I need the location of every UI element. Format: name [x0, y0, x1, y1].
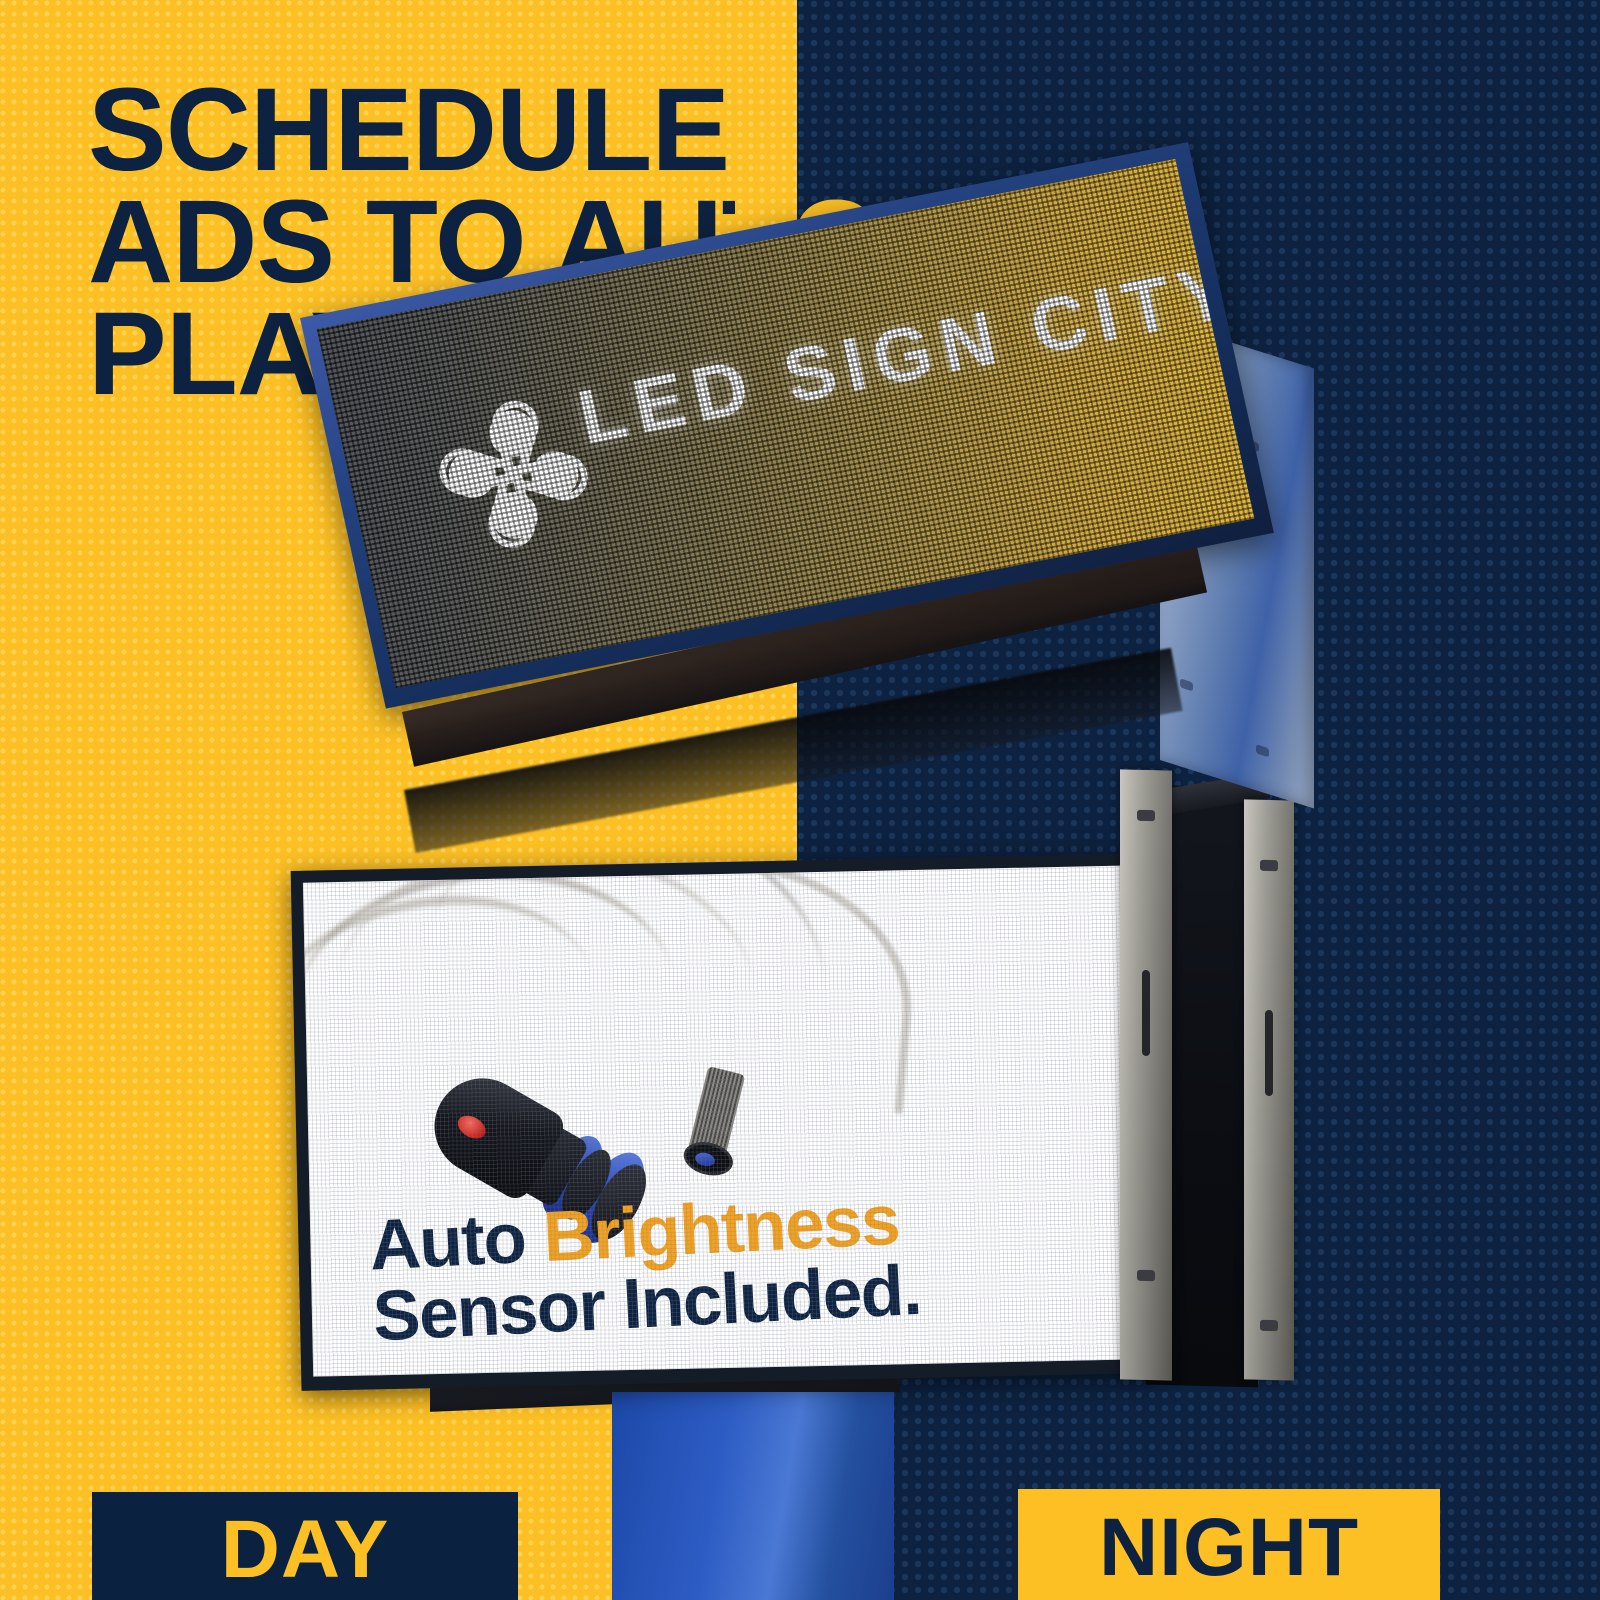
mounting-rail-inner — [1120, 769, 1172, 1380]
badge-day: DAY — [92, 1492, 518, 1600]
lower-display-cabinet: Auto Brightness Sensor Included. — [291, 853, 1157, 1391]
upper-led-sign: LED SIGN CITY — [300, 142, 1274, 708]
badge-night: NIGHT — [1018, 1489, 1440, 1600]
ad-copy-text: Auto Brightness Sensor Included. — [368, 1177, 1104, 1351]
lower-display-screen: Auto Brightness Sensor Included. — [303, 865, 1142, 1376]
sensor-lead-cable-icon — [596, 865, 923, 1113]
sign-support-pole — [612, 1392, 894, 1600]
advertisement-canvas: SCHEDULE ADS TO AUTO PLAY SCHEDULE ADS T… — [0, 0, 1600, 1600]
led-sign-assembly: Auto Brightness Sensor Included. — [0, 0, 1600, 1600]
mounting-rail-outer — [1244, 799, 1294, 1380]
